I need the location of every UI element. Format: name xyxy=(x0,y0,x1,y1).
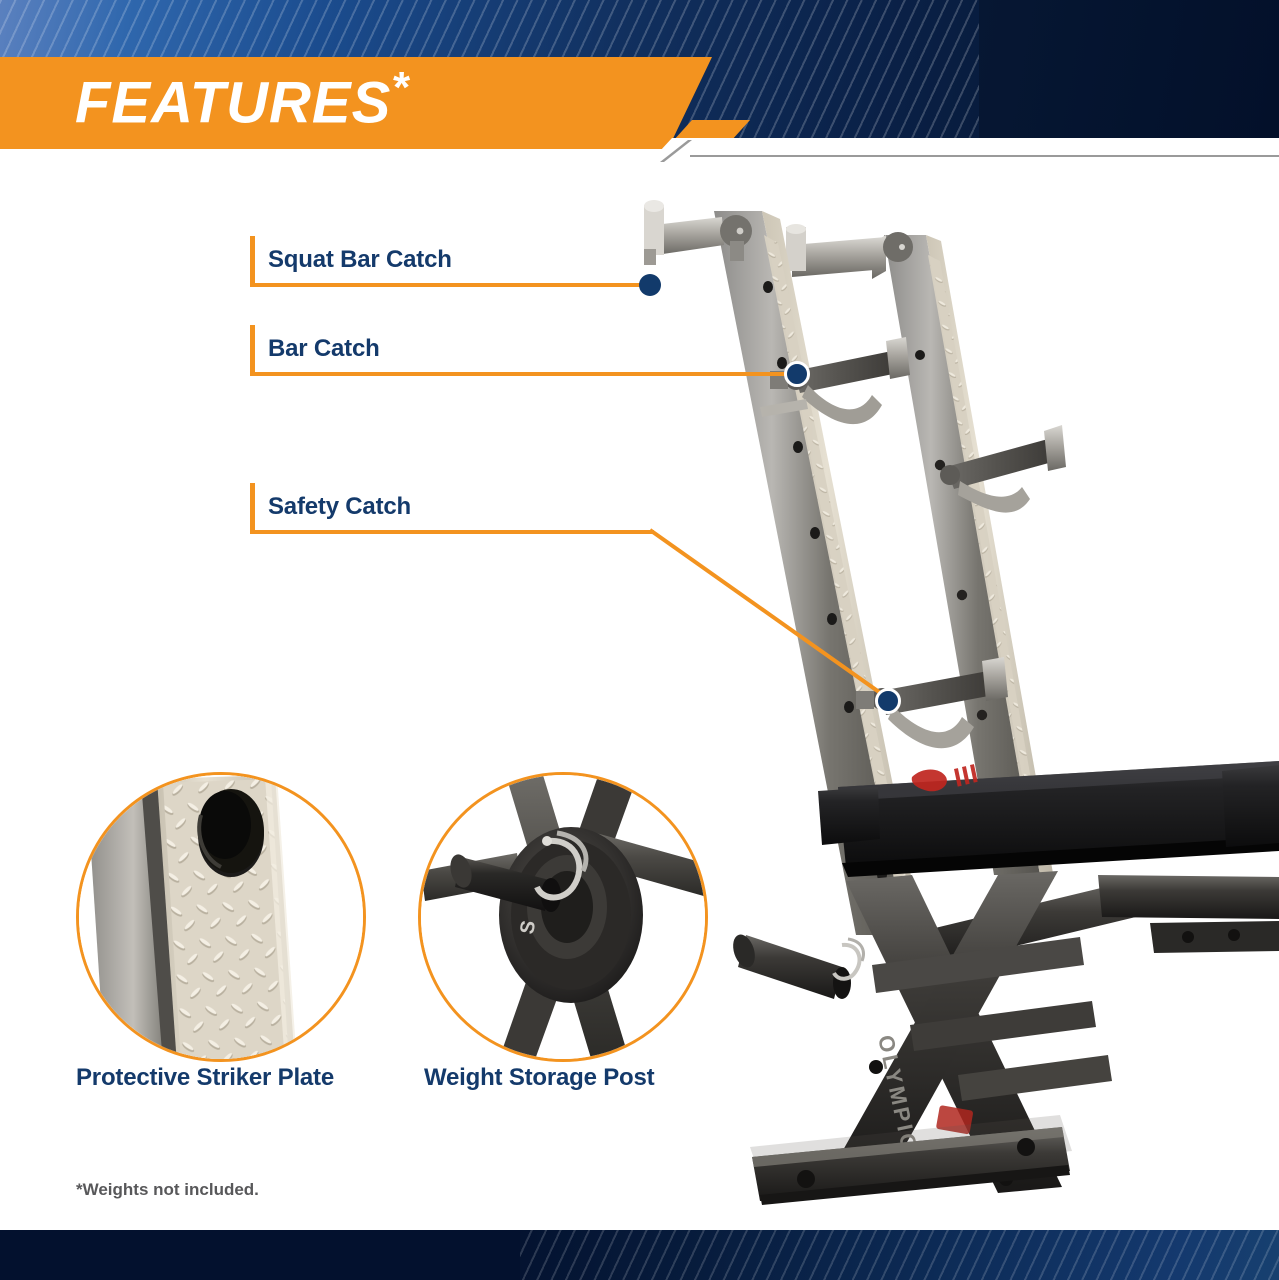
page-title-asterisk: * xyxy=(391,63,409,112)
callout-endpoint-dot xyxy=(784,361,810,387)
callout-endpoint-dot xyxy=(875,688,901,714)
header-blue-dark-wedge xyxy=(979,0,1279,146)
page-header: FEATURES* xyxy=(0,0,1279,162)
squat-bar-catch-part xyxy=(644,200,752,265)
footnote-text: *Weights not included. xyxy=(76,1180,259,1200)
detail-art-weight-storage-post: S xyxy=(421,775,708,1062)
page-title-text: FEATURES xyxy=(75,70,391,135)
callout-label-bar-catch: Bar Catch xyxy=(268,335,380,363)
detail-label-protective-striker-plate: Protective Striker Plate xyxy=(76,1064,334,1092)
detail-circle-protective-striker-plate xyxy=(76,772,366,1062)
footer-solid-block xyxy=(0,1230,520,1280)
callout-endpoint-dot xyxy=(639,274,661,296)
page-footer xyxy=(0,1230,1279,1280)
callout-bracket-vertical xyxy=(250,325,255,375)
detail-label-weight-storage-post: Weight Storage Post xyxy=(424,1064,654,1092)
detail-art-striker-plate xyxy=(79,775,366,1062)
header-white-slash xyxy=(648,138,1279,162)
weight-storage-post-part xyxy=(729,932,863,999)
callout-bracket-vertical xyxy=(250,483,255,533)
callout-bracket-vertical xyxy=(250,236,255,286)
page-title: FEATURES* xyxy=(75,66,409,132)
callout-leader-diagonal xyxy=(648,524,902,710)
header-gray-rule xyxy=(690,155,1279,157)
callout-leader-line xyxy=(250,283,650,287)
detail-circle-weight-storage-post: S xyxy=(418,772,708,1062)
callout-leader-line xyxy=(250,372,796,376)
callout-leader-line xyxy=(250,530,654,534)
bench-frame: OLYMPIC xyxy=(750,871,1279,1205)
callout-label-squat-bar-catch: Squat Bar Catch xyxy=(268,246,452,274)
callout-label-safety-catch: Safety Catch xyxy=(268,493,411,521)
